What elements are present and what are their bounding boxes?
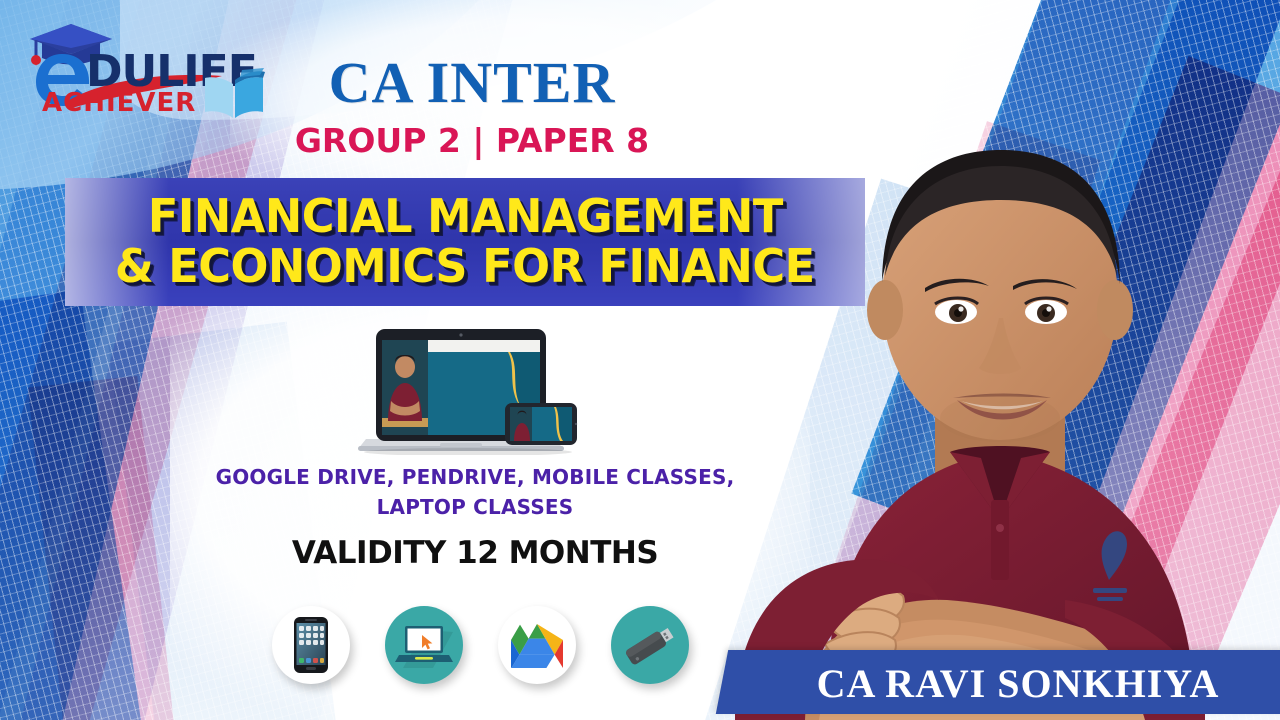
google-drive-icon[interactable] xyxy=(498,606,576,684)
subject-title-line1: FINANCIAL MANAGEMENT xyxy=(147,192,782,242)
instructor-photo xyxy=(735,0,1280,720)
devices-mockup xyxy=(358,325,588,455)
subtitle-group-paper: GROUP 2 | PAPER 8 xyxy=(272,124,672,157)
delivery-modes-line1: GOOGLE DRIVE, PENDRIVE, MOBILE CLASSES, xyxy=(150,462,800,492)
pendrive-icon[interactable] xyxy=(611,606,689,684)
smartphone-icon[interactable] xyxy=(272,606,350,684)
delivery-modes-line2: LAPTOP CLASSES xyxy=(150,492,800,522)
faculty-name: CA RAVI SONKHIYA xyxy=(748,660,1280,708)
laptop-icon[interactable] xyxy=(385,606,463,684)
page-title: CA INTER xyxy=(272,54,672,112)
brand-logo[interactable]: DULIFE ACHIEVER xyxy=(14,22,254,114)
course-poster: DULIFE ACHIEVER CA INTER GROUP 2 | PAPER… xyxy=(0,0,1280,720)
logo-tagline: ACHIEVER xyxy=(42,90,196,116)
delivery-icons-row xyxy=(272,598,692,694)
open-book-icon xyxy=(202,66,266,124)
subject-title-line2: & ECONOMICS FOR FINANCE xyxy=(115,242,815,292)
validity-text: VALIDITY 12 MONTHS xyxy=(150,538,800,569)
delivery-modes-text: GOOGLE DRIVE, PENDRIVE, MOBILE CLASSES, … xyxy=(150,462,800,522)
